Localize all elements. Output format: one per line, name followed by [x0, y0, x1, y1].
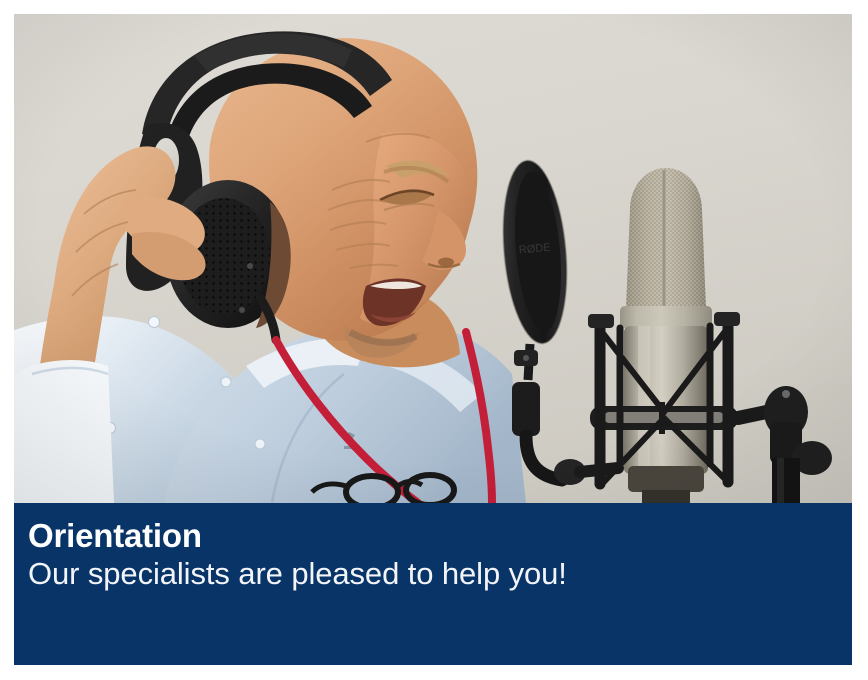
caption-bar: Orientation Our specialists are pleased …: [14, 503, 852, 665]
studio-photo: RØDE: [14, 14, 852, 503]
page-title: Orientation: [28, 517, 852, 555]
photo-vignette: [14, 14, 852, 503]
page-subtitle: Our specialists are pleased to help you!: [28, 555, 852, 592]
orientation-card[interactable]: RØDE: [14, 14, 852, 665]
photo-illustration: RØDE: [14, 14, 852, 503]
